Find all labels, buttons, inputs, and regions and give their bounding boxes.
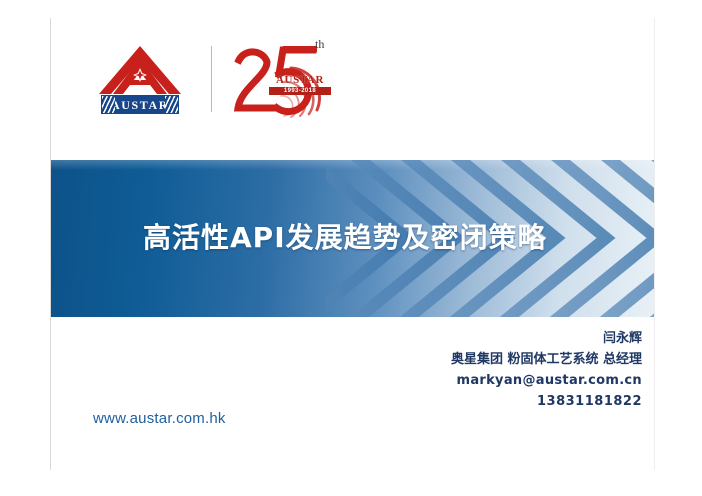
austar-company-logo: AUSTAR <box>97 44 183 116</box>
austar-triangle-icon <box>97 44 183 96</box>
presenter-phone: 13831181822 <box>292 391 642 412</box>
presenter-email[interactable]: markyan@austar.com.cn <box>292 370 642 391</box>
presenter-name: 闫永辉 <box>292 328 642 349</box>
anniversary-inner-years: 1993-2018 <box>269 87 331 95</box>
anniversary-logo: th AUSTAR 1993-2018 <box>229 32 349 126</box>
website-url[interactable]: www.austar.com.hk <box>93 410 226 427</box>
logo-divider <box>211 46 212 112</box>
slide-title: 高活性API发展趋势及密闭策略 <box>51 216 655 256</box>
title-banner: 高活性API发展趋势及密闭策略 <box>51 160 655 317</box>
presentation-slide: AUSTAR <box>50 18 655 470</box>
anniversary-inner-name: AUSTAR <box>269 75 331 87</box>
austar-wordmark-band: AUSTAR <box>101 95 179 114</box>
austar-wordmark: AUSTAR <box>111 99 169 111</box>
slide-header: AUSTAR <box>51 18 655 160</box>
contact-block: 闫永辉 奥星集团 粉固体工艺系统 总经理 markyan@austar.com.… <box>292 328 642 412</box>
presenter-role: 奥星集团 粉固体工艺系统 总经理 <box>292 349 642 370</box>
anniversary-ordinal: th <box>315 37 324 52</box>
